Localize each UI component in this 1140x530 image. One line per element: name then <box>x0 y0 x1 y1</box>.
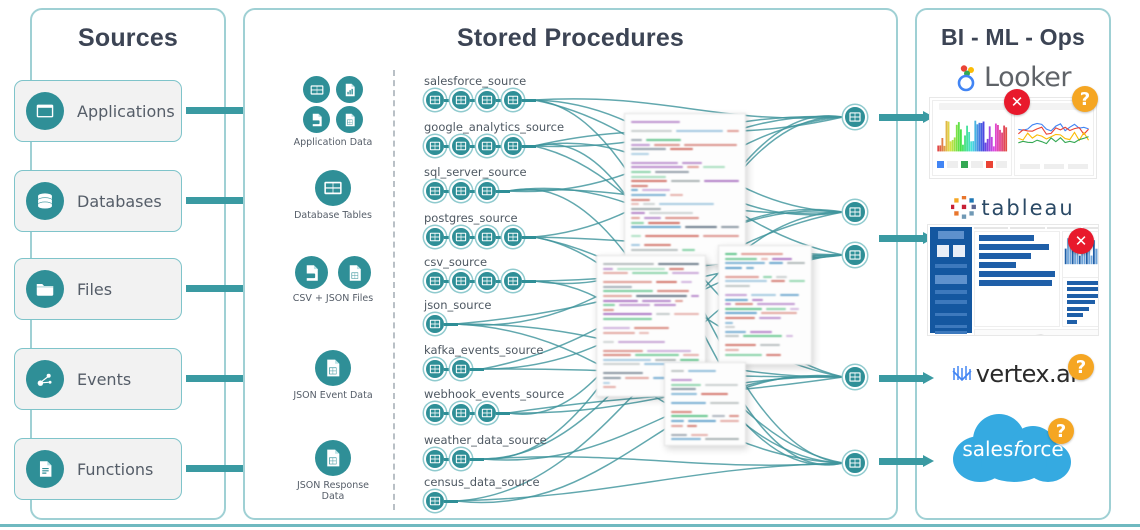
database-cylinder-icon <box>26 182 64 220</box>
table-node[interactable] <box>450 180 472 202</box>
vertex-wordmark: vertex.ai <box>976 360 1076 388</box>
source-node-label: webhook_events_source <box>424 387 564 401</box>
sources-panel-title: Sources <box>32 24 224 53</box>
table-node[interactable] <box>424 226 446 248</box>
document-csv-icon <box>303 106 330 133</box>
bottom-rule <box>0 524 1140 527</box>
source-node-label: salesforce_source <box>424 74 526 88</box>
source-card-functions[interactable]: Functions <box>14 438 182 500</box>
document-csv-icon <box>295 256 328 289</box>
status-badge-error: ✕ <box>1004 89 1030 115</box>
table-node[interactable] <box>502 226 524 248</box>
bi-tool-tableau[interactable]: tableau✕ <box>920 196 1106 336</box>
table-node[interactable] <box>424 135 446 157</box>
document-chart-icon <box>336 76 363 103</box>
source-node-label: postgres_source <box>424 211 518 225</box>
source-card-label: Applications <box>77 102 175 121</box>
table-node[interactable] <box>450 448 472 470</box>
source-card-events[interactable]: Events <box>14 348 182 410</box>
table-node[interactable] <box>476 89 498 111</box>
data-type-group-1: Database Tables <box>277 170 389 221</box>
table-node[interactable] <box>424 358 446 380</box>
source-node-label: json_source <box>424 298 491 312</box>
output-table-node[interactable] <box>843 200 867 224</box>
column-divider <box>393 70 395 510</box>
document-table-icon <box>315 440 351 476</box>
data-type-caption: CSV + JSON Files <box>277 293 389 304</box>
data-type-group-3: JSON Event Data <box>277 350 389 401</box>
output-table-node[interactable] <box>843 243 867 267</box>
table-node[interactable] <box>424 402 446 424</box>
table-node[interactable] <box>476 402 498 424</box>
status-badge-warning: ? <box>1068 354 1094 380</box>
source-node-label: kafka_events_source <box>424 343 544 357</box>
table-node[interactable] <box>424 448 446 470</box>
table-node[interactable] <box>502 135 524 157</box>
table-icon <box>303 76 330 103</box>
source-node-label: google_analytics_source <box>424 120 564 134</box>
table-node[interactable] <box>476 180 498 202</box>
source-node-label: weather_data_source <box>424 433 547 447</box>
source-card-label: Databases <box>77 192 162 211</box>
source-card-label: Events <box>77 370 131 389</box>
source-card-label: Files <box>77 280 112 299</box>
folder-icon <box>26 270 64 308</box>
data-type-group-0: Application Data <box>277 76 389 148</box>
source-card-label: Functions <box>77 460 153 479</box>
looker-logo: Looker <box>955 62 1071 93</box>
status-badge-warning: ? <box>1072 86 1098 112</box>
bi-tool-vertex[interactable]: vertex.ai? <box>920 360 1106 388</box>
source-card-files[interactable]: Files <box>14 258 182 320</box>
table-node[interactable] <box>424 89 446 111</box>
table-node[interactable] <box>450 226 472 248</box>
source-card-applications[interactable]: Applications <box>14 80 182 142</box>
table-node[interactable] <box>476 226 498 248</box>
source-card-databases[interactable]: Databases <box>14 170 182 232</box>
bi-tool-looker[interactable]: Looker✕? <box>920 62 1106 179</box>
bi-panel-title: BI - ML - Ops <box>917 24 1109 51</box>
sql-code-card <box>664 362 746 446</box>
data-type-caption: JSON Event Data <box>277 390 389 401</box>
status-badge-error: ✕ <box>1068 228 1094 254</box>
output-table-node[interactable] <box>843 105 867 129</box>
table-node[interactable] <box>424 180 446 202</box>
tableau-logo: tableau <box>951 196 1074 220</box>
table-node[interactable] <box>502 89 524 111</box>
table-node[interactable] <box>424 313 446 335</box>
document-table-icon <box>315 350 351 386</box>
sql-code-card <box>718 245 812 365</box>
table-node[interactable] <box>450 89 472 111</box>
table-icon <box>315 170 351 206</box>
data-type-group-4: JSON Response Data <box>277 440 389 502</box>
vertex-ai-logo: vertex.ai <box>950 360 1076 388</box>
source-node-label: sql_server_source <box>424 165 527 179</box>
table-node[interactable] <box>502 270 524 292</box>
application-window-icon <box>26 92 64 130</box>
document-table-icon <box>338 256 371 289</box>
output-table-node[interactable] <box>843 451 867 475</box>
tableau-wordmark: tableau <box>981 196 1074 220</box>
table-node[interactable] <box>424 270 446 292</box>
table-node[interactable] <box>450 135 472 157</box>
tableau-logo-row: tableau <box>920 196 1106 220</box>
event-network-icon <box>26 360 64 398</box>
table-node[interactable] <box>450 358 472 380</box>
table-node[interactable] <box>476 270 498 292</box>
table-node[interactable] <box>450 402 472 424</box>
bi-tool-salesforce[interactable]: salesforce? <box>920 410 1106 484</box>
data-type-caption: JSON Response Data <box>277 480 389 502</box>
source-node-label: csv_source <box>424 255 487 269</box>
output-table-node[interactable] <box>843 365 867 389</box>
data-type-caption: Application Data <box>277 137 389 148</box>
document-table-icon <box>336 106 363 133</box>
table-node[interactable] <box>450 270 472 292</box>
stored-procedures-panel-title: Stored Procedures <box>245 24 896 53</box>
table-node[interactable] <box>424 490 446 512</box>
data-type-caption: Database Tables <box>277 210 389 221</box>
source-node-label: census_data_source <box>424 475 540 489</box>
status-badge-warning: ? <box>1048 418 1074 444</box>
function-document-icon <box>26 450 64 488</box>
table-node[interactable] <box>476 135 498 157</box>
looker-wordmark: Looker <box>984 62 1071 93</box>
diagram-canvas: Sources ApplicationsDatabasesFilesEvents… <box>0 0 1140 530</box>
sql-code-card <box>624 113 746 265</box>
data-type-group-2: CSV + JSON Files <box>277 256 389 304</box>
